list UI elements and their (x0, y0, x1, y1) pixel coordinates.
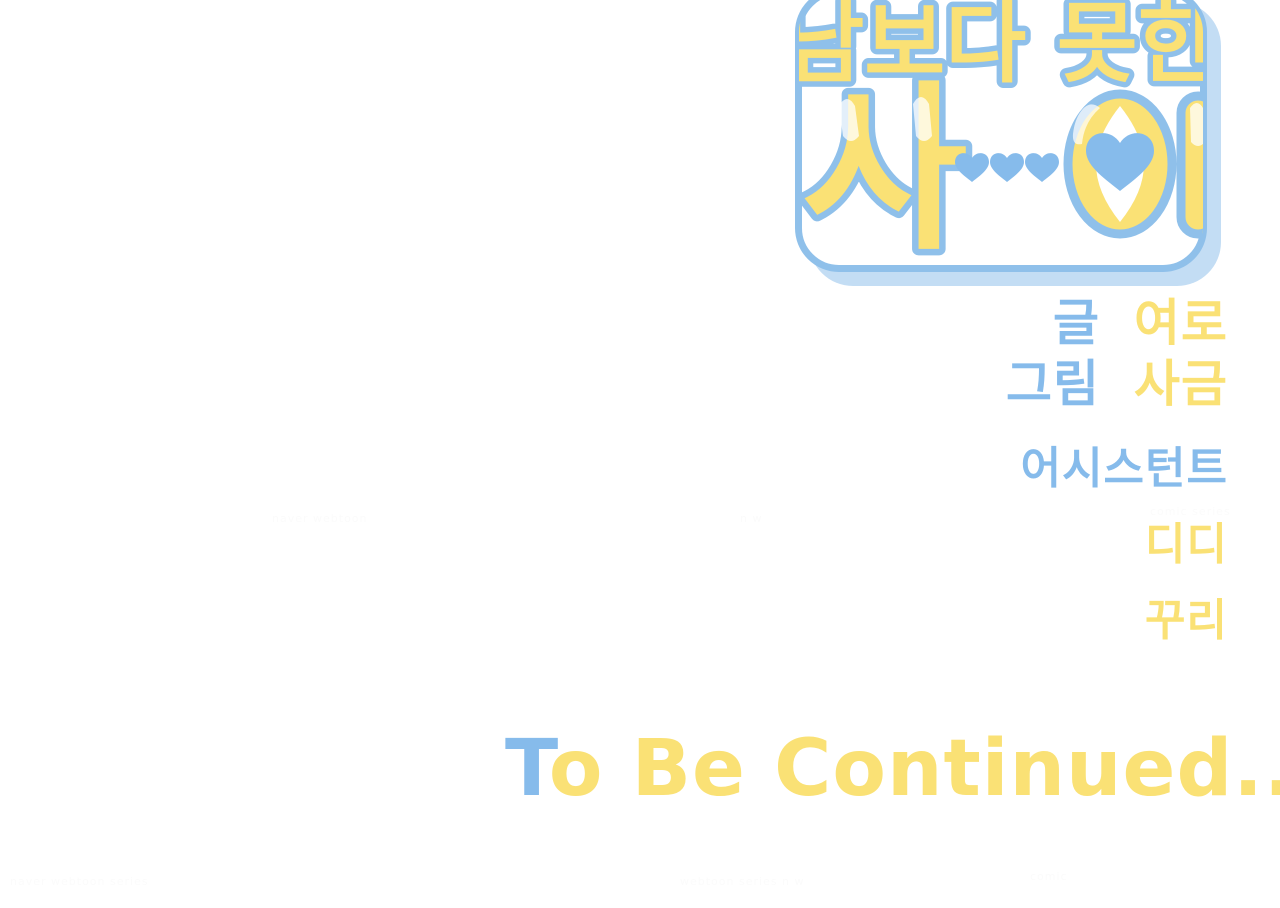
logo-i-stem-gloss (1190, 103, 1205, 146)
to-be-continued-lead-letter: T (505, 724, 549, 814)
credit-block-assistant: 어시스턴트 디디 꾸리 (628, 432, 1228, 648)
to-be-continued-rest: o Be Continued... (549, 724, 1280, 814)
credit-name-writer: 여로 (1134, 298, 1228, 349)
credit-row-writer: 글 여로 (628, 298, 1228, 349)
watermark-bottom-left: naver webtoon series (10, 875, 149, 888)
credit-name-artist: 사금 (1134, 359, 1228, 410)
watermark-mid-left: naver webtoon (272, 512, 368, 525)
credit-row-artist: 그림 사금 (628, 359, 1228, 410)
credit-role-writer: 글 (1053, 298, 1100, 349)
logo-separator-hearts (955, 153, 1059, 182)
watermark-bottom-center: webtoon series n w (680, 875, 805, 888)
credits-block: 글 여로 그림 사금 어시스턴트 디디 꾸리 (628, 298, 1228, 648)
to-be-continued-text: To Be Continued... (505, 724, 1280, 814)
credit-role-artist: 그림 (1006, 359, 1100, 410)
watermark-bottom-right: comic (1030, 870, 1068, 883)
title-logo-artwork: 남보다 못한 남보다 못한 사 사 (795, 0, 1207, 272)
heart-icon-2 (990, 153, 1024, 182)
credit-name-assistant-1: 디디 (628, 508, 1228, 572)
logo-syllable-i (1068, 94, 1215, 234)
credit-name-assistant-2: 꾸리 (628, 584, 1228, 648)
logo-sa-fill: 사 (802, 66, 968, 275)
heart-icon-3 (1025, 153, 1059, 182)
credit-role-assistant: 어시스턴트 (628, 432, 1228, 496)
title-logo: 남보다 못한 남보다 못한 사 사 (795, 0, 1207, 272)
logo-syllable-sa: 사 사 (802, 66, 968, 275)
